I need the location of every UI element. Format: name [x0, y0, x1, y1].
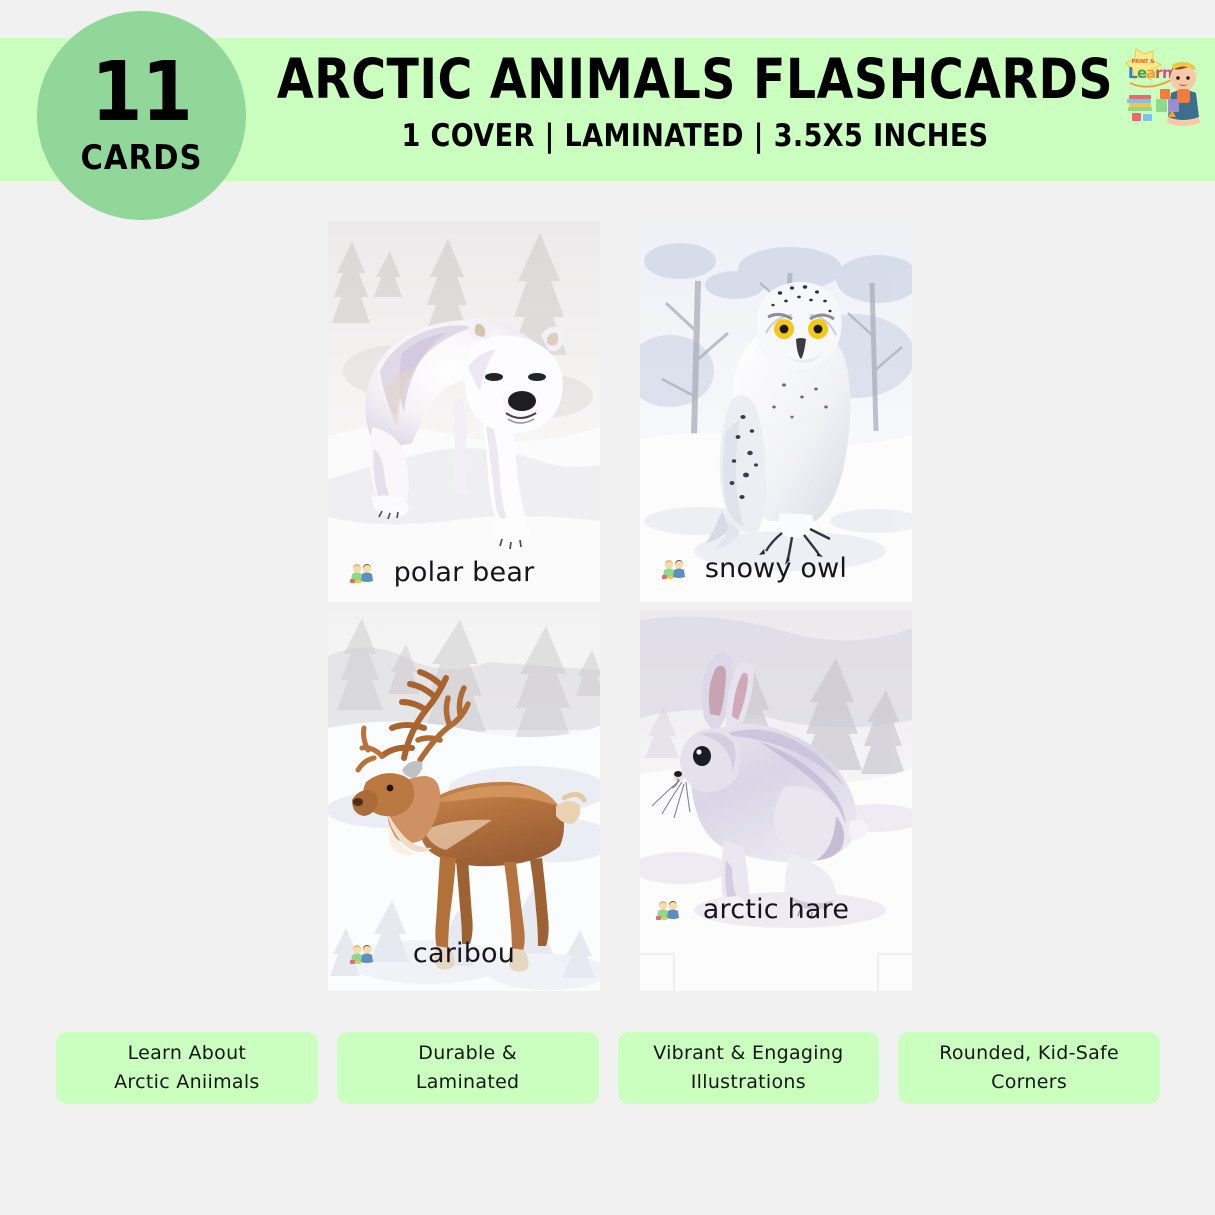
page-subtitle: 1 COVER | LAMINATED | 3.5X5 INCHES	[268, 118, 1122, 154]
flashcard-label: snowy owl	[640, 553, 912, 584]
snowy-owl-watercolor	[640, 221, 912, 602]
flashcard-arctic-hare[interactable]: arctic hare	[640, 610, 912, 991]
card-count-number: 11	[91, 54, 192, 132]
feature-line-2: Illustrations	[691, 1068, 806, 1097]
flashcard-grid: polar bear	[328, 221, 912, 991]
card-count-badge: 11 CARDS	[37, 11, 246, 220]
feature-pill-durable[interactable]: Durable & Laminated	[337, 1032, 599, 1104]
feature-pill-row: Learn About Arctic Aniimals Durable & La…	[56, 1032, 1160, 1104]
print-and-learn-logo: PRINT & L e a r n	[1116, 45, 1208, 137]
flashcard-label: polar bear	[328, 557, 600, 588]
arctic-hare-watercolor	[640, 610, 912, 991]
page-title: ARCTIC ANIMALS FLASHCARDS	[273, 48, 1118, 110]
flashcard-label: arctic hare	[640, 894, 912, 925]
feature-pill-vibrant[interactable]: Vibrant & Engaging Illustrations	[618, 1032, 880, 1104]
feature-pill-rounded-corners[interactable]: Rounded, Kid-Safe Corners	[898, 1032, 1160, 1104]
caribou-watercolor	[328, 610, 600, 991]
feature-line-1: Learn About	[128, 1039, 247, 1068]
feature-line-1: Vibrant & Engaging	[653, 1039, 843, 1068]
feature-line-2: Arctic Aniimals	[114, 1068, 259, 1097]
header-text-group: ARCTIC ANIMALS FLASHCARDS 1 COVER | LAMI…	[255, 38, 1215, 181]
logo-artwork: PRINT & L e a r n	[1116, 45, 1208, 137]
flashcard-caribou[interactable]: caribou	[328, 610, 600, 991]
feature-line-2: Corners	[991, 1068, 1067, 1097]
flashcard-snowy-owl[interactable]: snowy owl	[640, 221, 912, 602]
page-title-row: ARCTIC ANIMALS FLASHCARDS	[255, 48, 1135, 110]
feature-line-1: Durable &	[418, 1039, 517, 1068]
polar-bear-watercolor	[328, 221, 600, 602]
flashcard-label: caribou	[328, 938, 600, 969]
feature-pill-learn-about[interactable]: Learn About Arctic Aniimals	[56, 1032, 318, 1104]
feature-line-1: Rounded, Kid-Safe	[939, 1039, 1119, 1068]
flashcard-polar-bear[interactable]: polar bear	[328, 221, 600, 602]
feature-line-2: Laminated	[416, 1068, 520, 1097]
card-count-label: CARDS	[80, 138, 202, 178]
